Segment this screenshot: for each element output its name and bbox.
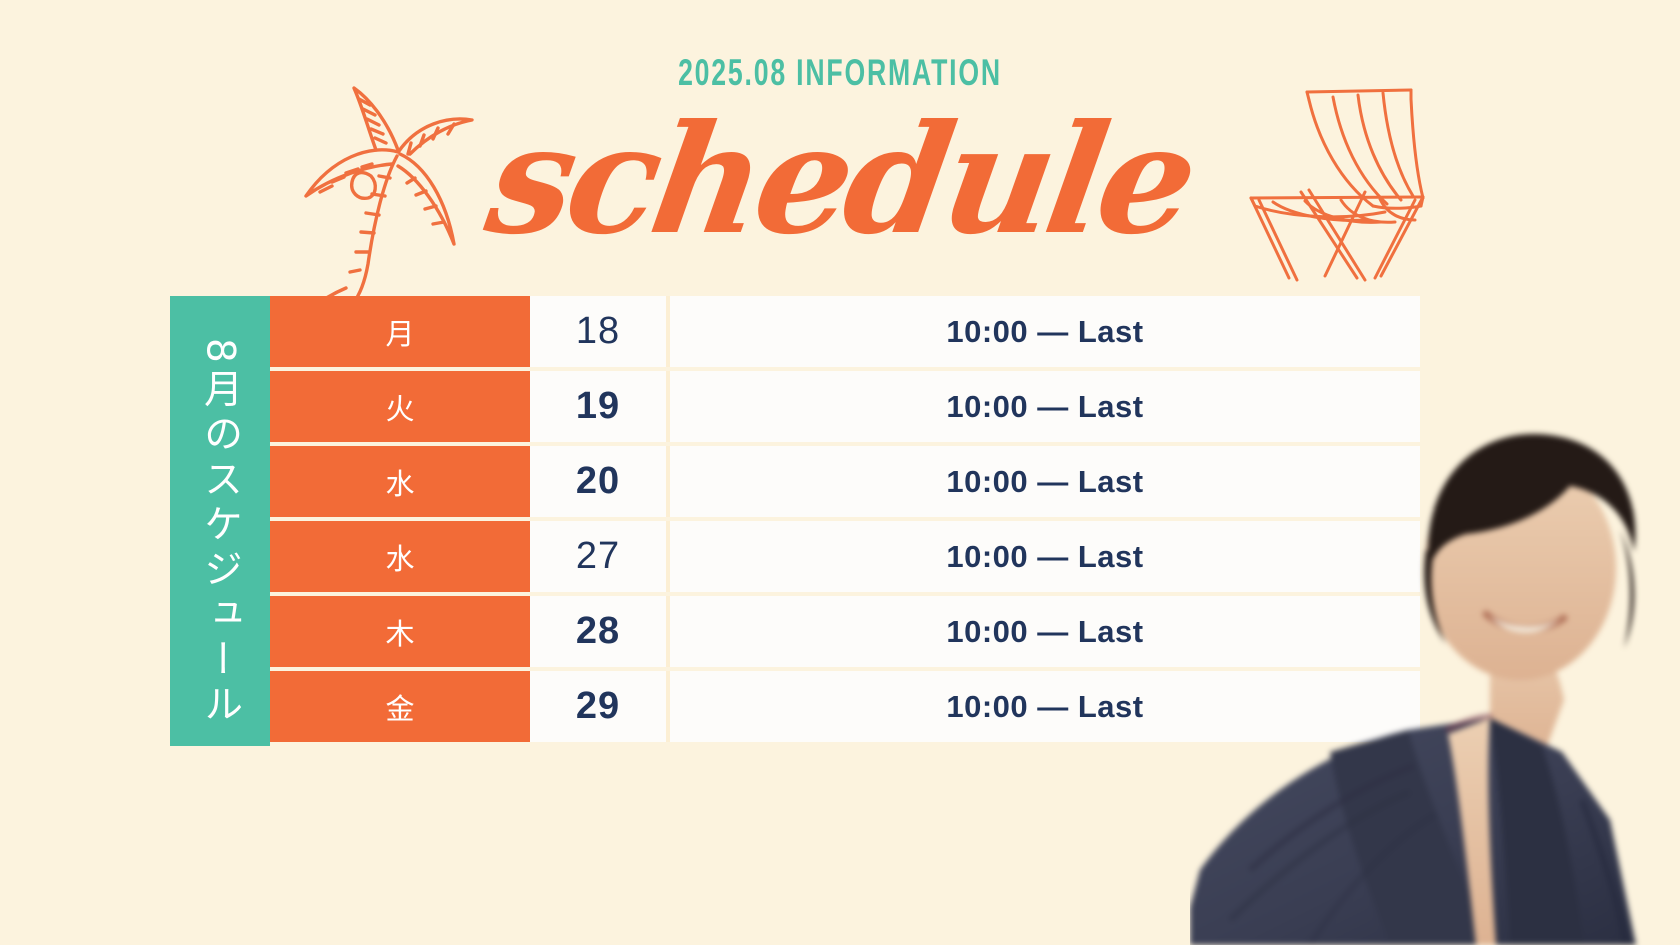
- person-photo: [1190, 400, 1680, 945]
- row-day: 水: [270, 521, 530, 592]
- row-date: 20: [530, 446, 670, 517]
- row-day: 水: [270, 446, 530, 517]
- side-label-text: 8月のスケジュール: [201, 338, 240, 729]
- poster-header: 2025.08 INFORMATION schedule: [0, 0, 1680, 290]
- row-date: 28: [530, 596, 670, 667]
- table-row[interactable]: 月 18 10:00 — Last: [270, 296, 1420, 367]
- row-day: 木: [270, 596, 530, 667]
- row-day: 金: [270, 671, 530, 742]
- schedule-poster: 2025.08 INFORMATION schedule: [0, 0, 1680, 945]
- row-day: 月: [270, 296, 530, 367]
- row-date: 27: [530, 521, 670, 592]
- row-date: 18: [530, 296, 670, 367]
- page-title: schedule: [0, 90, 1680, 270]
- poster-eyebrow: 2025.08 INFORMATION: [235, 52, 1445, 94]
- row-date: 19: [530, 371, 670, 442]
- row-day: 火: [270, 371, 530, 442]
- row-date: 29: [530, 671, 670, 742]
- schedule-side-label: 8月のスケジュール: [170, 296, 270, 746]
- row-time: 10:00 — Last: [670, 296, 1420, 367]
